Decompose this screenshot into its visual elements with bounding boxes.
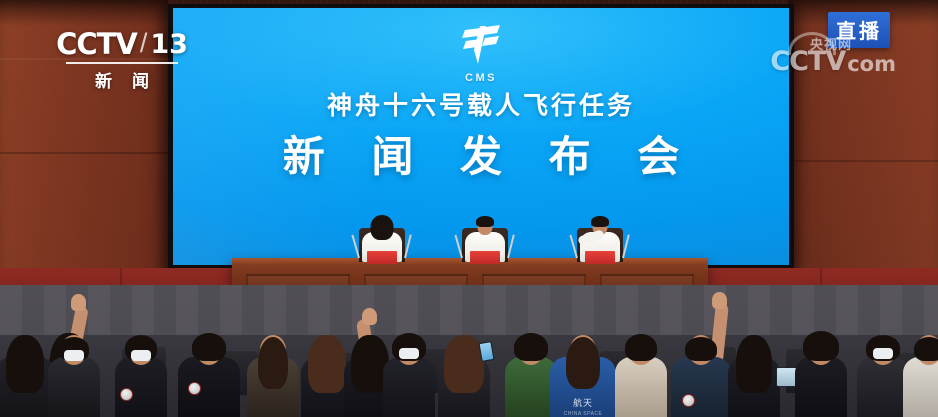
panelist-center [455,200,515,262]
cms-logo-block: CMS [173,24,789,84]
panelist-hair [476,216,494,227]
audience-body [615,357,667,417]
audience-body [48,357,100,417]
panelist-left [352,200,412,262]
audience-member [612,337,670,417]
audience-area: 航天 CHINA SPACE [0,285,938,417]
audience-member-aerospace-jacket: 航天 CHINA SPACE [548,349,618,417]
audience-body [383,357,435,417]
audience-body [903,357,938,417]
face-mask [64,350,84,361]
smartphone [478,341,494,362]
microphone [622,234,630,258]
audience-member [790,327,852,417]
panelist-nameplate [585,251,615,264]
audience-body [795,357,847,417]
cms-rocket-logo [450,24,512,66]
audience-hair [258,337,288,389]
face-mask [873,348,893,359]
seat-badge [120,388,133,401]
wall-panel-left [0,0,168,300]
audience-hair [6,335,44,393]
wall-seam-left [0,152,168,154]
panelist-nameplate [470,251,500,264]
audience-hair [566,337,600,389]
jacket-logo-subtext: CHINA SPACE [564,411,603,417]
screen-subtitle: 神舟十六号载人飞行任务 [173,86,789,122]
audience-member [244,345,302,417]
audience-member [432,343,496,417]
audience-hair [914,337,938,361]
raised-hand [71,294,86,311]
audience-hair [736,335,772,393]
audience-member [378,335,440,417]
wall-seam-right [788,160,938,162]
audience-hair [685,337,717,361]
audience-hair [803,331,839,361]
raised-hand [362,308,377,325]
microphone [404,234,412,258]
jacket-logo-text: 航天 [573,396,593,409]
seat-badge [682,394,695,407]
screen-title: 新 闻 发 布 会 [173,123,789,184]
audience-member [112,337,170,417]
face-mask [399,348,419,359]
audience-body [671,357,731,417]
audience-member [176,327,242,417]
panelist-right [570,200,630,262]
audience-member [724,347,784,417]
live-badge: 直播 [828,12,890,48]
audience-hair [625,334,657,361]
panelist-hair [371,215,394,240]
audience-member [44,351,104,417]
raised-hand [712,292,727,309]
microphone [507,234,515,258]
panelist-hair [591,216,609,227]
seat-badge [188,382,201,395]
audience-hair [192,333,226,361]
wall-seam-left-upper [0,58,168,60]
audience-member [900,353,938,417]
audience-hair [514,333,548,361]
audience-body [115,357,167,417]
broadcast-video-frame: CMS 神舟十六号载人飞行任务 新 闻 发 布 会 [0,0,938,417]
face-mask [131,350,151,361]
cms-logo-label: CMS [173,72,789,84]
panelist-nameplate [367,251,397,264]
